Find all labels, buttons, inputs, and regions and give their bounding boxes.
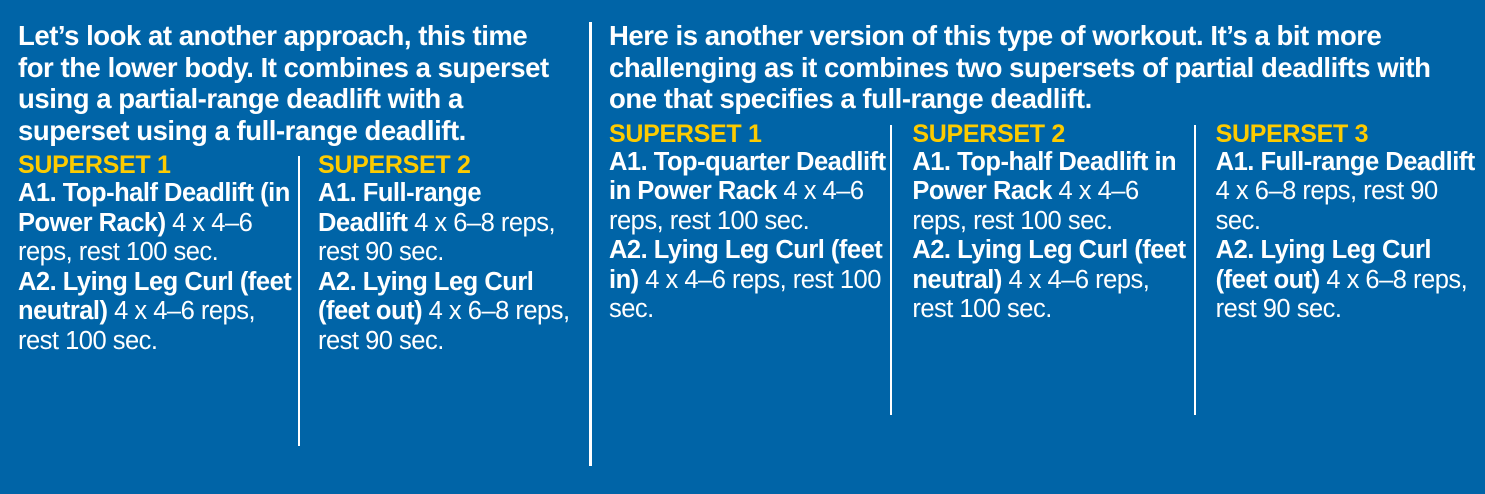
exercise-code: A1. — [1216, 148, 1254, 176]
exercise-item: A2. Lying Leg Curl (feet neutral) 4 x 4–… — [912, 236, 1195, 325]
superset-exercise-list: A1. Top-half Deadlift in Power Rack 4 x … — [912, 148, 1195, 325]
panel-lower-body-two-superset: Let’s look at another approach, this tim… — [0, 0, 589, 494]
exercise-name: Full-range Deadlift — [1260, 148, 1474, 176]
exercise-code: A1. — [318, 179, 356, 207]
panel-lower-body-three-superset: Here is another version of this type of … — [589, 0, 1485, 494]
exercise-code: A1. — [18, 179, 56, 207]
exercise-item: A1. Top-half Deadlift (in Power Rack) 4 … — [18, 179, 300, 268]
panel-group: Let’s look at another approach, this tim… — [0, 0, 1485, 494]
panel-intro-paragraph: Let’s look at another approach, this tim… — [0, 0, 563, 146]
exercise-code: A2. — [1216, 236, 1254, 264]
superset-title: SUPERSET 3 — [1216, 120, 1485, 148]
superset-exercise-list: A1. Full-range Deadlift 4 x 6–8 reps, re… — [318, 179, 570, 356]
exercise-code: A2. — [18, 268, 56, 296]
superset-title: SUPERSET 2 — [318, 151, 570, 179]
exercise-item: A2. Lying Leg Curl (feet out) 4 x 6–8 re… — [318, 268, 570, 357]
exercise-code: A2. — [318, 268, 356, 296]
exercise-item: A1. Top-half Deadlift in Power Rack 4 x … — [912, 148, 1195, 237]
superset-title: SUPERSET 1 — [609, 120, 892, 148]
exercise-prescription: 4 x 4–6 reps, rest 100 sec. — [609, 266, 881, 324]
superset-title: SUPERSET 2 — [912, 120, 1195, 148]
workout-infographic: Let’s look at another approach, this tim… — [0, 0, 1485, 494]
exercise-code: A1. — [912, 148, 950, 176]
exercise-item: A1. Top-quarter Deadlift in Power Rack 4… — [609, 148, 892, 237]
superset-exercise-list: A1. Full-range Deadlift 4 x 6–8 reps, re… — [1216, 148, 1485, 325]
exercise-item: A2. Lying Leg Curl (feet out) 4 x 6–8 re… — [1216, 236, 1485, 325]
exercise-code: A2. — [912, 236, 950, 264]
superset-column-3: SUPERSET 3 A1. Full-range Deadlift 4 x 6… — [1196, 115, 1485, 494]
superset-title: SUPERSET 1 — [18, 151, 300, 179]
exercise-item: A2. Lying Leg Curl (feet in) 4 x 4–6 rep… — [609, 236, 892, 325]
superset-column-1: SUPERSET 1 A1. Top-half Deadlift (in Pow… — [18, 146, 300, 494]
superset-columns: SUPERSET 1 A1. Top-half Deadlift (in Pow… — [0, 146, 589, 494]
exercise-code: A2. — [609, 236, 647, 264]
panel-intro-paragraph: Here is another version of this type of … — [589, 0, 1464, 115]
superset-exercise-list: A1. Top-quarter Deadlift in Power Rack 4… — [609, 148, 892, 325]
superset-columns: SUPERSET 1 A1. Top-quarter Deadlift in P… — [589, 115, 1485, 494]
superset-column-1: SUPERSET 1 A1. Top-quarter Deadlift in P… — [609, 115, 892, 494]
superset-column-2: SUPERSET 2 A1. Top-half Deadlift in Powe… — [892, 115, 1195, 494]
exercise-item: A1. Full-range Deadlift 4 x 6–8 reps, re… — [318, 179, 570, 268]
exercise-item: A1. Full-range Deadlift 4 x 6–8 reps, re… — [1216, 148, 1485, 237]
superset-column-2: SUPERSET 2 A1. Full-range Deadlift 4 x 6… — [300, 146, 570, 494]
exercise-prescription: 4 x 6–8 reps, rest 90 sec. — [1216, 177, 1438, 235]
superset-exercise-list: A1. Top-half Deadlift (in Power Rack) 4 … — [18, 179, 300, 356]
exercise-item: A2. Lying Leg Curl (feet neutral) 4 x 4–… — [18, 268, 300, 357]
exercise-code: A1. — [609, 148, 647, 176]
